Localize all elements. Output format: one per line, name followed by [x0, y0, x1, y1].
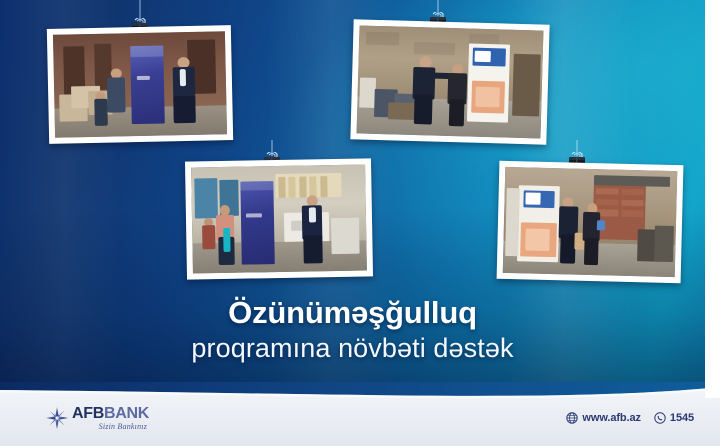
afb-bank-promo-banner: Özünüməşğulluq proqramına növbəti dəstək: [0, 0, 720, 446]
photo-bottom-center: [185, 158, 373, 279]
phone-label: 1545: [670, 412, 694, 424]
star-burst-icon: [46, 407, 68, 429]
footer-contacts: www.afb.az 1545: [566, 412, 694, 424]
photo-image: [503, 167, 678, 277]
footer-content: AFBBANK Sizin Bankınız: [0, 398, 720, 438]
website-label: www.afb.az: [582, 412, 641, 424]
page-subtitle: proqramına növbəti dəstək: [0, 333, 705, 364]
photo-top-left: [47, 25, 233, 144]
footer-bar: AFBBANK Sizin Bankınız: [0, 382, 720, 446]
logo-tagline: Sizin Bankınız: [99, 423, 147, 431]
logo-word-afb: AFB: [72, 405, 104, 422]
globe-icon: [566, 412, 578, 424]
right-white-margin: [705, 0, 720, 398]
headline-block: Özünüməşğulluq proqramına növbəti dəstək: [0, 296, 705, 365]
page-title: Özünüməşğulluq: [0, 296, 705, 329]
phone-number[interactable]: 1545: [654, 412, 694, 424]
photo-top-right: [350, 19, 549, 144]
logo-word-bank: BANK: [104, 405, 149, 422]
photo-image: [53, 31, 227, 138]
logo-text: AFBBANK Sizin Bankınız: [72, 406, 149, 431]
photo-image: [357, 25, 544, 138]
call-icon: [654, 412, 666, 424]
logo-wordmark: AFBBANK: [72, 406, 149, 422]
photo-bottom-right: [497, 161, 684, 283]
afb-bank-logo[interactable]: AFBBANK Sizin Bankınız: [46, 406, 149, 431]
stage-right-edge: [705, 0, 706, 398]
website-link[interactable]: www.afb.az: [566, 412, 641, 424]
photo-image: [191, 164, 367, 273]
